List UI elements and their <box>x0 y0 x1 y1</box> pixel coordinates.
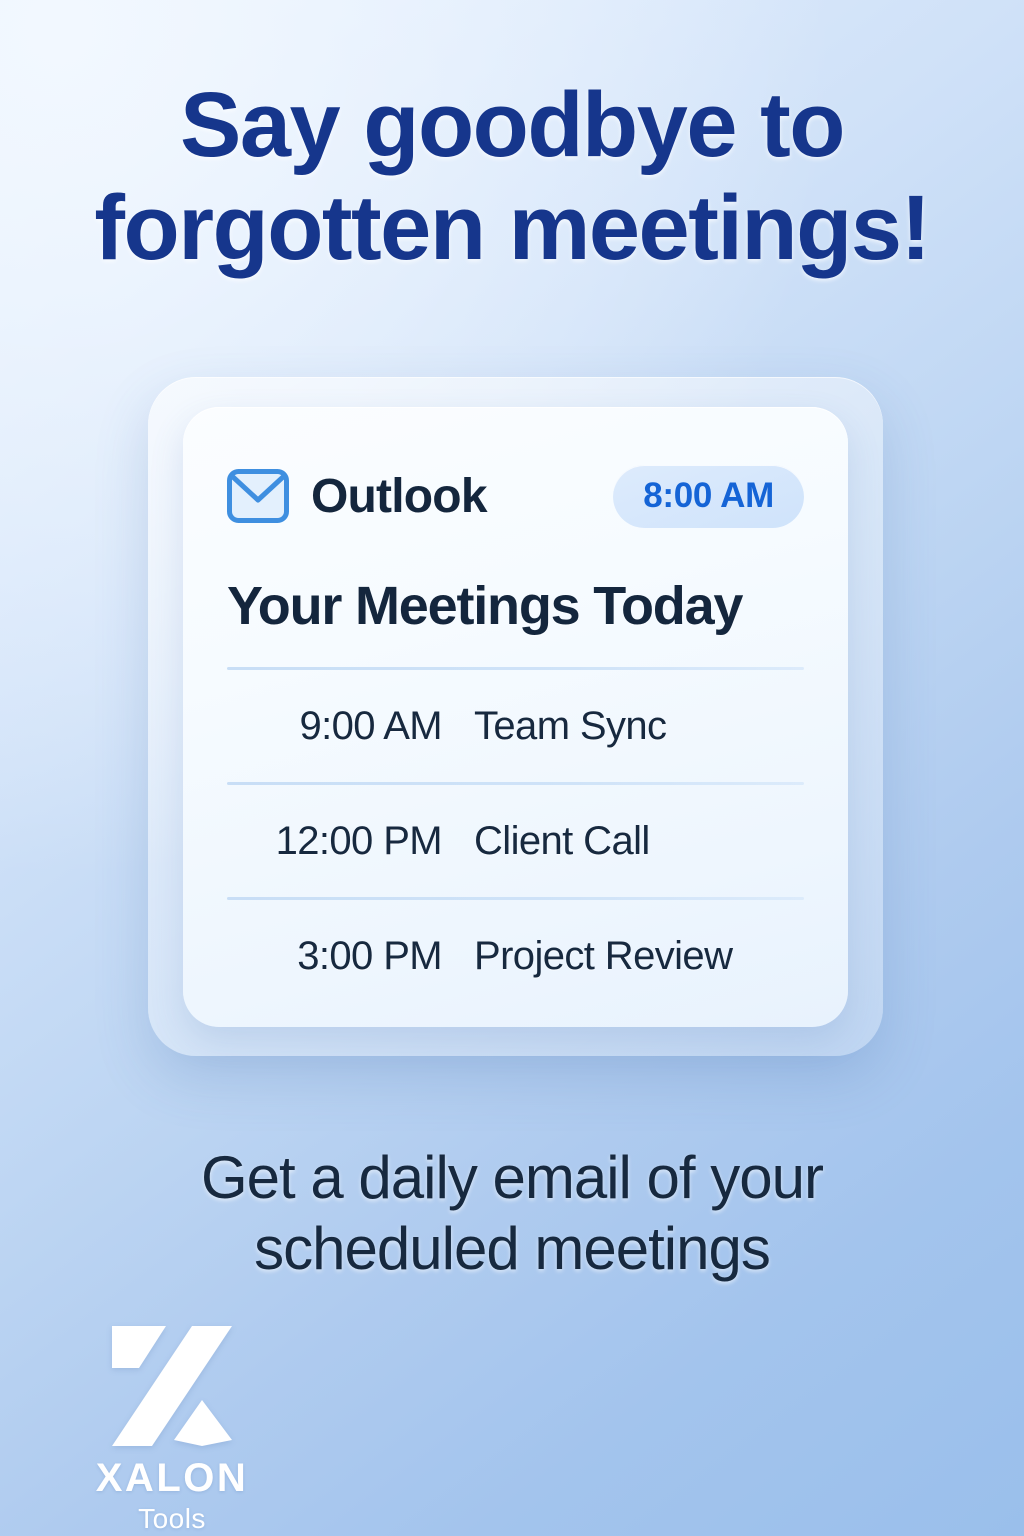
meeting-list: 9:00 AM Team Sync 12:00 PM Client Call 3… <box>227 667 804 1012</box>
meeting-title: Team Sync <box>474 704 666 749</box>
page-title: Say goodbye to forgotten meetings! <box>52 74 972 280</box>
subtitle-line-2: scheduled meetings <box>0 1214 1024 1285</box>
meeting-title: Client Call <box>474 819 650 864</box>
meeting-time: 3:00 PM <box>237 934 442 979</box>
card-title: Your Meetings Today <box>227 575 804 637</box>
table-row[interactable]: 12:00 PM Client Call <box>227 785 804 897</box>
meeting-time: 12:00 PM <box>237 819 442 864</box>
brand-tagline: Tools <box>66 1505 278 1533</box>
table-row[interactable]: 3:00 PM Project Review <box>227 900 804 1012</box>
subtitle: Get a daily email of your scheduled meet… <box>0 1143 1024 1285</box>
headline-line-1: Say goodbye to <box>52 74 972 177</box>
status-badge: 8:00 AM <box>613 465 804 528</box>
headline-line-2: forgotten meetings! <box>52 177 972 280</box>
brand-name: XALON <box>66 1458 278 1498</box>
brand-logo: XALON Tools <box>66 1322 278 1533</box>
envelope-icon <box>227 469 289 523</box>
xalon-x-mark-icon <box>108 1322 236 1450</box>
card-header: Outlook 8:00 AM <box>227 463 804 529</box>
meeting-title: Project Review <box>474 934 732 979</box>
meeting-time: 9:00 AM <box>237 704 442 749</box>
glass-panel: Outlook 8:00 AM Your Meetings Today 9:00… <box>148 377 883 1056</box>
app-name-label: Outlook <box>311 469 487 524</box>
subtitle-line-1: Get a daily email of your <box>0 1143 1024 1214</box>
table-row[interactable]: 9:00 AM Team Sync <box>227 670 804 782</box>
poster-canvas: Say goodbye to forgotten meetings! Outlo… <box>0 0 1024 1536</box>
notification-card: Outlook 8:00 AM Your Meetings Today 9:00… <box>183 407 848 1027</box>
